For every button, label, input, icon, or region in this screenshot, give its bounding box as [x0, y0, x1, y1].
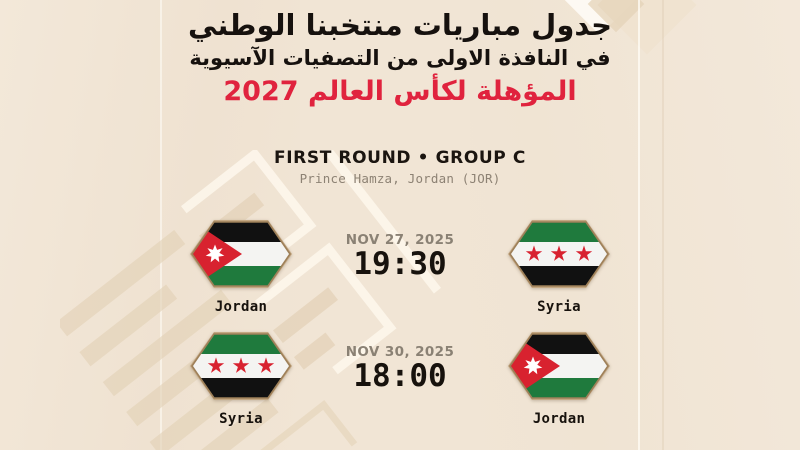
- away-team-flag-badge: [506, 330, 612, 402]
- away-team-name: Syria: [537, 299, 581, 315]
- match-time: 18:00: [325, 359, 475, 393]
- home-team-flag-badge: [188, 218, 294, 290]
- home-team-flag-badge: [188, 330, 294, 402]
- syria-flag-icon: [188, 330, 294, 402]
- away-team: Syria: [475, 218, 643, 315]
- home-team-name: Jordan: [215, 299, 267, 315]
- jordan-flag-icon: [506, 330, 612, 402]
- jordan-flag-icon: [188, 218, 294, 290]
- home-team: Jordan: [157, 218, 325, 315]
- headline-line-1: جدول مباريات منتخبنا الوطني: [0, 8, 800, 42]
- match-row: Syria NOV 30, 2025 18:00: [0, 330, 800, 442]
- venue-label: Prince Hamza, Jordan (JOR): [0, 171, 800, 186]
- match-time: 19:30: [325, 247, 475, 281]
- headline-line-2: في النافذة الاولى من التصفيات الآسيوية: [0, 44, 800, 73]
- away-team-flag-badge: [506, 218, 612, 290]
- syria-flag-icon: [506, 218, 612, 290]
- match-list: Jordan NOV 27, 2025 19:30: [0, 218, 800, 442]
- match-row: Jordan NOV 27, 2025 19:30: [0, 218, 800, 330]
- away-team: Jordan: [475, 330, 643, 427]
- headline: جدول مباريات منتخبنا الوطني في النافذة ا…: [0, 8, 800, 108]
- home-team-name: Syria: [219, 411, 263, 427]
- headline-line-3: المؤهلة لكأس العالم 2027: [0, 75, 800, 108]
- match-fixture: NOV 27, 2025 19:30: [325, 218, 475, 281]
- round-block: FIRST ROUND • GROUP C Prince Hamza, Jord…: [0, 148, 800, 186]
- match-schedule-graphic: جدول مباريات منتخبنا الوطني في النافذة ا…: [0, 0, 800, 450]
- home-team: Syria: [157, 330, 325, 427]
- away-team-name: Jordan: [533, 411, 585, 427]
- round-title: FIRST ROUND • GROUP C: [0, 148, 800, 168]
- match-fixture: NOV 30, 2025 18:00: [325, 330, 475, 393]
